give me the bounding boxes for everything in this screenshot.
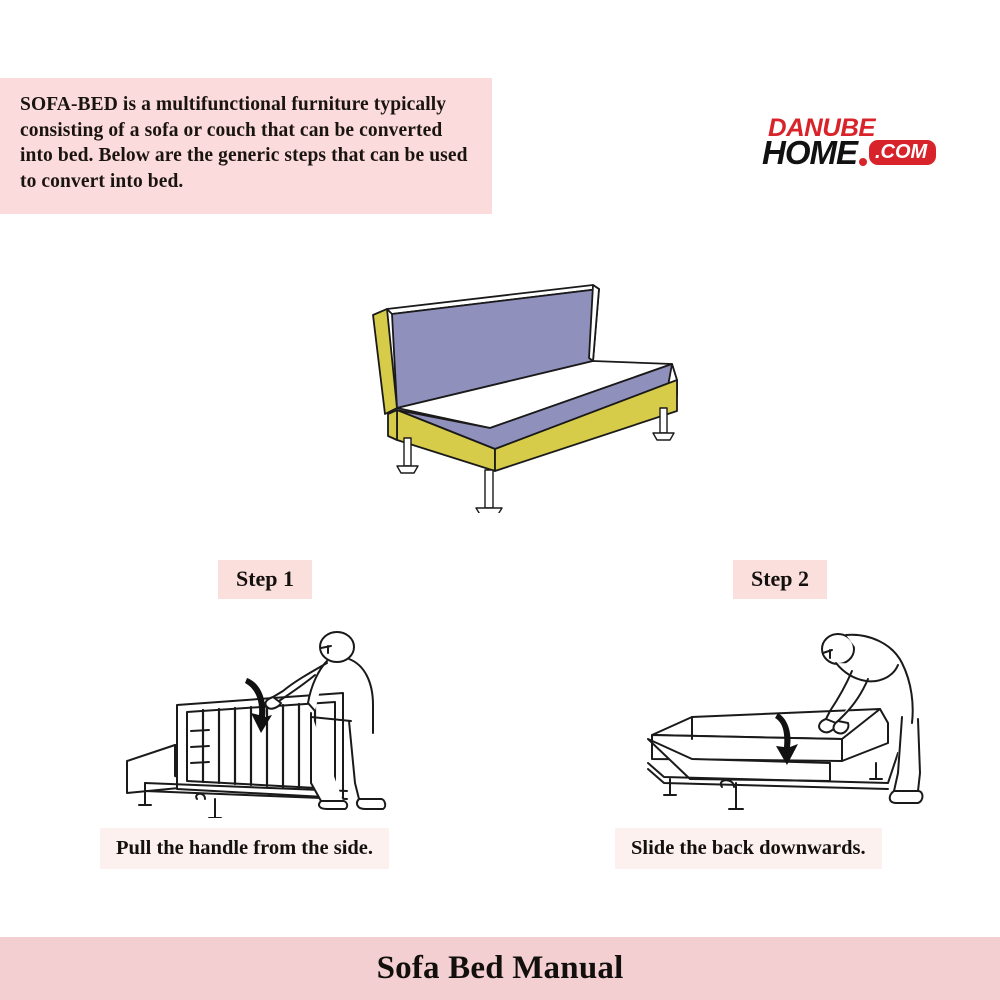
sofa-bed-hero-illustration [350, 268, 695, 513]
footer-bar: Sofa Bed Manual [0, 937, 1000, 1000]
intro-paragraph: SOFA-BED is a multifunctional furniture … [20, 92, 472, 194]
logo-dot-icon [859, 158, 867, 166]
person-sliding-back-down-drawing [630, 613, 930, 818]
logo-com-badge: .COM [869, 140, 936, 165]
sofa-bed-drawing [350, 268, 695, 513]
footer-title: Sofa Bed Manual [377, 950, 624, 987]
logo-second-row: HOME .COM [762, 136, 936, 169]
step-2-illustration [630, 613, 930, 818]
step-column-1: Step 1 [55, 560, 475, 869]
intro-text-box: SOFA-BED is a multifunctional furniture … [0, 78, 492, 214]
step-1-caption: Pull the handle from the side. [100, 828, 389, 869]
person-pulling-handle-drawing [115, 613, 415, 818]
step-2-caption: Slide the back downwards. [615, 828, 882, 869]
brand-logo: DANUBE HOME .COM [762, 114, 977, 172]
step-1-badge: Step 1 [218, 560, 312, 599]
step-1-illustration [115, 613, 415, 818]
step-column-2: Step 2 [570, 560, 990, 869]
step-2-badge: Step 2 [733, 560, 827, 599]
logo-home-text: HOME [762, 136, 857, 169]
